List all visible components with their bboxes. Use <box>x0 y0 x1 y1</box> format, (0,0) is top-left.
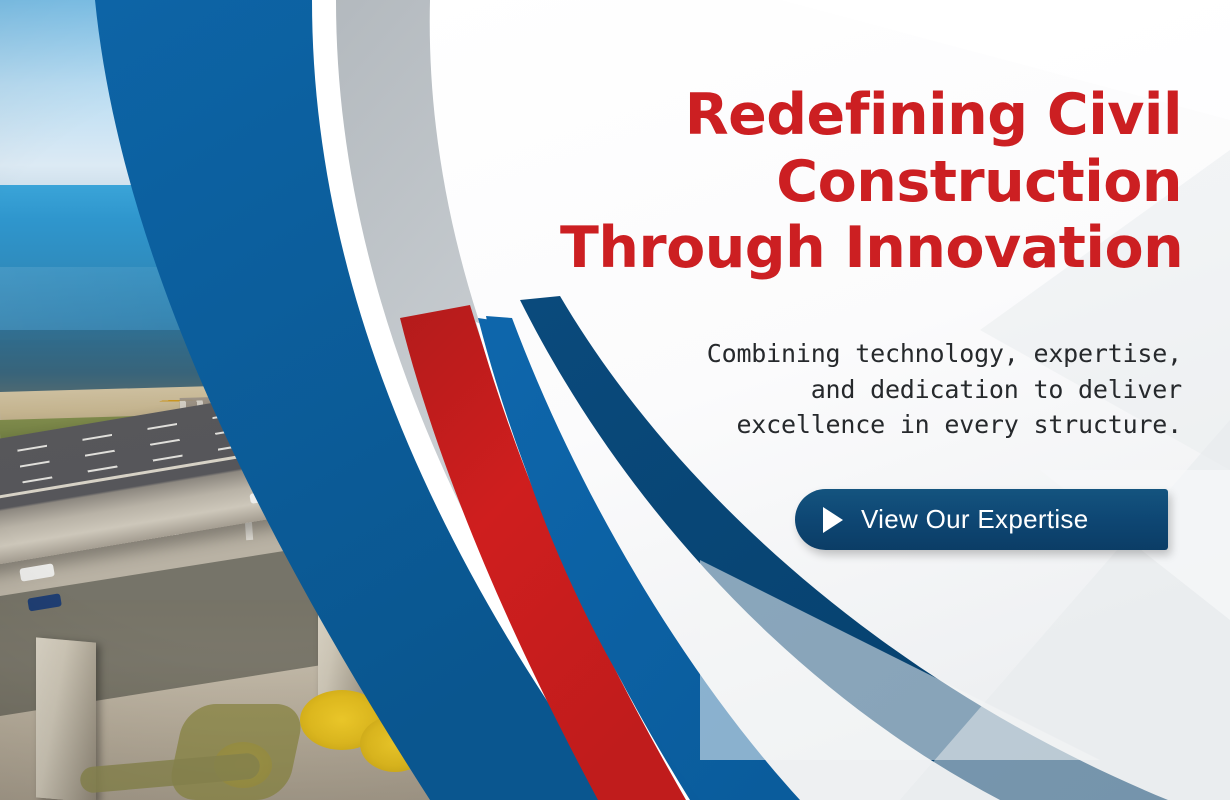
view-our-expertise-button[interactable]: View Our Expertise <box>795 489 1168 550</box>
hero-content: Redefining Civil Construction Through In… <box>560 0 1230 800</box>
subtitle-line-2: and dedication to deliver <box>620 372 1182 408</box>
page-title: Redefining Civil Construction Through In… <box>560 82 1182 282</box>
headline-line-3: Through Innovation <box>560 215 1182 282</box>
cta-label: View Our Expertise <box>861 504 1088 535</box>
subtitle-line-1: Combining technology, expertise, <box>620 336 1182 372</box>
play-triangle-icon <box>823 507 843 533</box>
hero-banner: Redefining Civil Construction Through In… <box>0 0 1230 800</box>
headline-line-2: Construction <box>560 149 1182 216</box>
headline-line-1: Redefining Civil <box>560 82 1182 149</box>
hero-subtitle: Combining technology, expertise, and ded… <box>620 336 1182 443</box>
subtitle-line-3: excellence in every structure. <box>620 407 1182 443</box>
